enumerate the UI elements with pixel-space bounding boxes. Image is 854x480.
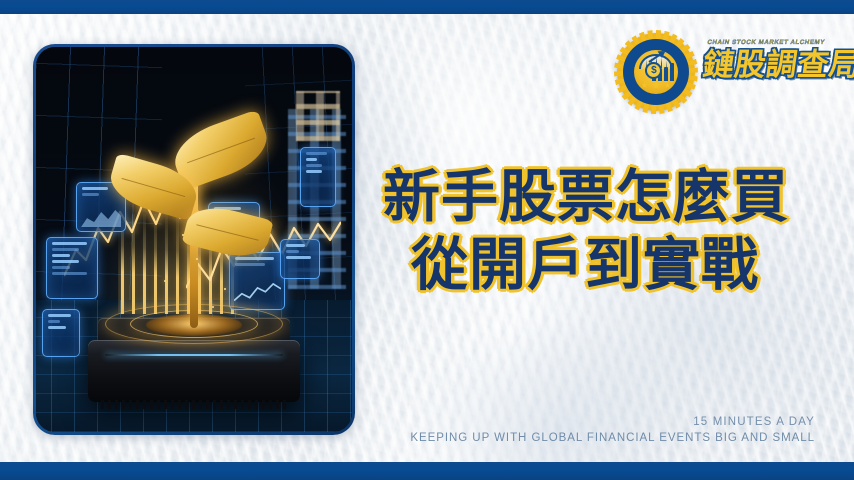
hero-hud-panel	[42, 309, 80, 357]
hero-cpu-chip	[88, 340, 300, 402]
tagline-line-2: KEEPING UP WITH GLOBAL FINANCIAL EVENTS …	[410, 430, 815, 446]
top-accent-bar	[0, 0, 854, 14]
hero-hud-panel	[280, 239, 320, 279]
badge-blue-ring: $ ★ ★ ★ ★ ★	[623, 39, 689, 105]
hero-hud-panel	[300, 147, 336, 207]
brand-wordmark: CHAIN STOCK MARKET ALCHEMY 鏈股調查局	[703, 39, 829, 82]
title-line-1: 新手股票怎麼買	[383, 164, 787, 230]
star-icon: ★	[664, 82, 671, 90]
tagline-line-1: 15 MINUTES A DAY	[410, 414, 815, 430]
hero-hud-panel	[46, 237, 98, 299]
star-icon: ★	[651, 82, 661, 90]
hero-sparkle	[164, 280, 166, 282]
tagline: 15 MINUTES A DAY KEEPING UP WITH GLOBAL …	[410, 414, 815, 446]
hero-window-lights-warm	[296, 91, 340, 141]
hero-hud-panel	[229, 252, 285, 310]
badge-stars: ★ ★ ★ ★ ★	[634, 82, 678, 90]
hero-image-frame	[33, 44, 355, 435]
bottom-accent-bar	[0, 462, 854, 480]
hero-sparkle	[212, 306, 214, 308]
hero-sparkle	[182, 234, 184, 236]
finance-badge-seal-icon: $ ★ ★ ★ ★ ★	[617, 33, 695, 111]
hero-sparkle	[224, 288, 226, 290]
brand-english-name: CHAIN STOCK MARKET ALCHEMY	[702, 39, 830, 47]
star-icon: ★	[641, 82, 648, 90]
badge-core: $ ★ ★ ★ ★ ★	[634, 50, 678, 94]
hero-sparkle	[196, 258, 198, 260]
brand-chinese-name: 鏈股調查局	[701, 48, 832, 82]
star-icon: ★	[674, 82, 678, 90]
brand-lockup[interactable]: $ ★ ★ ★ ★ ★ CHAIN STOCK MARKET ALCHEMY 鏈…	[617, 31, 829, 111]
title-line-2: 從開戶到實戰	[383, 232, 787, 298]
star-icon: ★	[634, 82, 638, 90]
golden-sapling-on-cpu-illustration	[36, 47, 352, 432]
poster-canvas: $ ★ ★ ★ ★ ★ CHAIN STOCK MARKET ALCHEMY 鏈…	[0, 0, 854, 480]
page-title: 新手股票怎麼買 從開戶到實戰	[383, 164, 787, 298]
